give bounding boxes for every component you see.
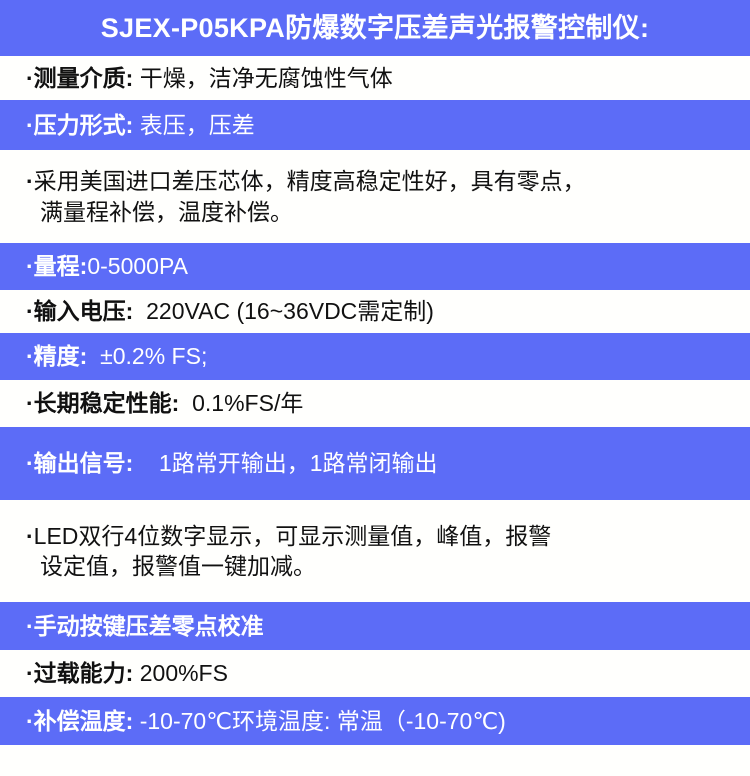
spec-row-range: ·量程:0-5000PA xyxy=(0,243,750,290)
spec-line: ·精度: ±0.2% FS; xyxy=(0,341,750,371)
spec-label: 过载能力: xyxy=(34,660,134,686)
spec-value: -10-70℃环境温度: 常温（-10-70℃) xyxy=(133,708,505,734)
spec-line: ·测量介质: 干燥，洁净无腐蚀性气体 xyxy=(0,63,750,93)
spec-row-measuring-medium: ·测量介质: 干燥，洁净无腐蚀性气体 xyxy=(0,56,750,100)
bullet-marker: · xyxy=(26,390,34,416)
spec-row-accuracy: ·精度: ±0.2% FS; xyxy=(0,333,750,380)
spec-line: ·输入电压: 220VAC (16~36VDC需定制) xyxy=(0,296,750,326)
spec-label: 测量介质: xyxy=(34,65,134,91)
spec-line: ·补偿温度: -10-70℃环境温度: 常温（-10-70℃) xyxy=(0,706,750,736)
spec-value: 1路常开输出，1路常闭输出 xyxy=(133,450,437,476)
bullet-marker: · xyxy=(26,613,34,639)
spec-row-sensor-core: ·采用美国进口差压芯体，精度高稳定性好，具有零点， 满量程补偿，温度补偿。 xyxy=(0,150,750,243)
spec-label: 量程: xyxy=(34,253,88,279)
spec-line-continued: 设定值，报警值一键加减。 xyxy=(0,551,750,581)
bullet-marker: · xyxy=(26,253,34,279)
bullet-marker: · xyxy=(26,112,34,138)
spec-line-continued: 满量程补偿，温度补偿。 xyxy=(0,197,750,227)
spec-line: ·压力形式: 表压，压差 xyxy=(0,110,750,140)
spec-line: ·过载能力: 200%FS xyxy=(0,658,750,688)
bullet-marker: · xyxy=(26,450,34,476)
spec-line: ·LED双行4位数字显示，可显示测量值，峰值，报警 xyxy=(0,521,750,551)
spec-label: 输入电压: xyxy=(34,298,134,324)
bullet-marker: · xyxy=(26,168,34,194)
spec-value: 0.1%FS/年 xyxy=(179,390,303,416)
bullet-marker: · xyxy=(26,65,34,91)
spec-row-input-voltage: ·输入电压: 220VAC (16~36VDC需定制) xyxy=(0,290,750,333)
spec-value: ±0.2% FS; xyxy=(87,343,207,369)
spec-row-compensation-temperature: ·补偿温度: -10-70℃环境温度: 常温（-10-70℃) xyxy=(0,697,750,745)
spec-row-long-term-stability: ·长期稳定性能: 0.1%FS/年 xyxy=(0,380,750,427)
product-title-banner: SJEX-P05KPA防爆数字压差声光报警控制仪: xyxy=(0,0,750,56)
spec-value: 满量程补偿，温度补偿。 xyxy=(40,199,293,225)
spec-label: 精度: xyxy=(34,343,88,369)
product-spec-sheet: SJEX-P05KPA防爆数字压差声光报警控制仪: ·测量介质: 干燥，洁净无腐… xyxy=(0,0,750,776)
spec-line: ·手动按键压差零点校准 xyxy=(0,611,750,641)
spec-label: 补偿温度: xyxy=(34,708,134,734)
bullet-marker: · xyxy=(26,343,34,369)
spec-line: ·量程:0-5000PA xyxy=(0,251,750,281)
spec-value: 干燥，洁净无腐蚀性气体 xyxy=(133,65,392,91)
spec-line: ·采用美国进口差压芯体，精度高稳定性好，具有零点， xyxy=(0,166,750,196)
page-title: SJEX-P05KPA防爆数字压差声光报警控制仪: xyxy=(101,14,650,42)
bullet-marker: · xyxy=(26,523,34,549)
spec-value: 采用美国进口差压芯体，精度高稳定性好，具有零点， xyxy=(34,168,586,194)
spec-label: 长期稳定性能: xyxy=(34,390,180,416)
spec-row-pressure-type: ·压力形式: 表压，压差 xyxy=(0,100,750,150)
spec-row-manual-zero-calibration: ·手动按键压差零点校准 xyxy=(0,602,750,650)
spec-value: 设定值，报警值一键加减。 xyxy=(40,553,316,579)
spec-row-overload-capacity: ·过载能力: 200%FS xyxy=(0,650,750,697)
spec-value: 220VAC (16~36VDC需定制) xyxy=(133,298,434,324)
spec-value: LED双行4位数字显示，可显示测量值，峰值，报警 xyxy=(34,523,552,549)
bullet-marker: · xyxy=(26,660,34,686)
spec-value: 表压，压差 xyxy=(133,112,254,138)
bottom-spacer xyxy=(0,745,750,776)
bullet-marker: · xyxy=(26,708,34,734)
spec-line: ·长期稳定性能: 0.1%FS/年 xyxy=(0,388,750,418)
bullet-marker: · xyxy=(26,298,34,324)
spec-row-led-display: ·LED双行4位数字显示，可显示测量值，峰值，报警 设定值，报警值一键加减。 xyxy=(0,500,750,602)
spec-label: 手动按键压差零点校准 xyxy=(34,613,264,639)
spec-value: 0-5000PA xyxy=(87,253,188,279)
spec-row-output-signal: ·输出信号: 1路常开输出，1路常闭输出 xyxy=(0,427,750,500)
spec-label: 输出信号: xyxy=(34,450,134,476)
spec-line: ·输出信号: 1路常开输出，1路常闭输出 xyxy=(0,448,750,478)
spec-label: 压力形式: xyxy=(34,112,134,138)
spec-value: 200%FS xyxy=(133,660,228,686)
